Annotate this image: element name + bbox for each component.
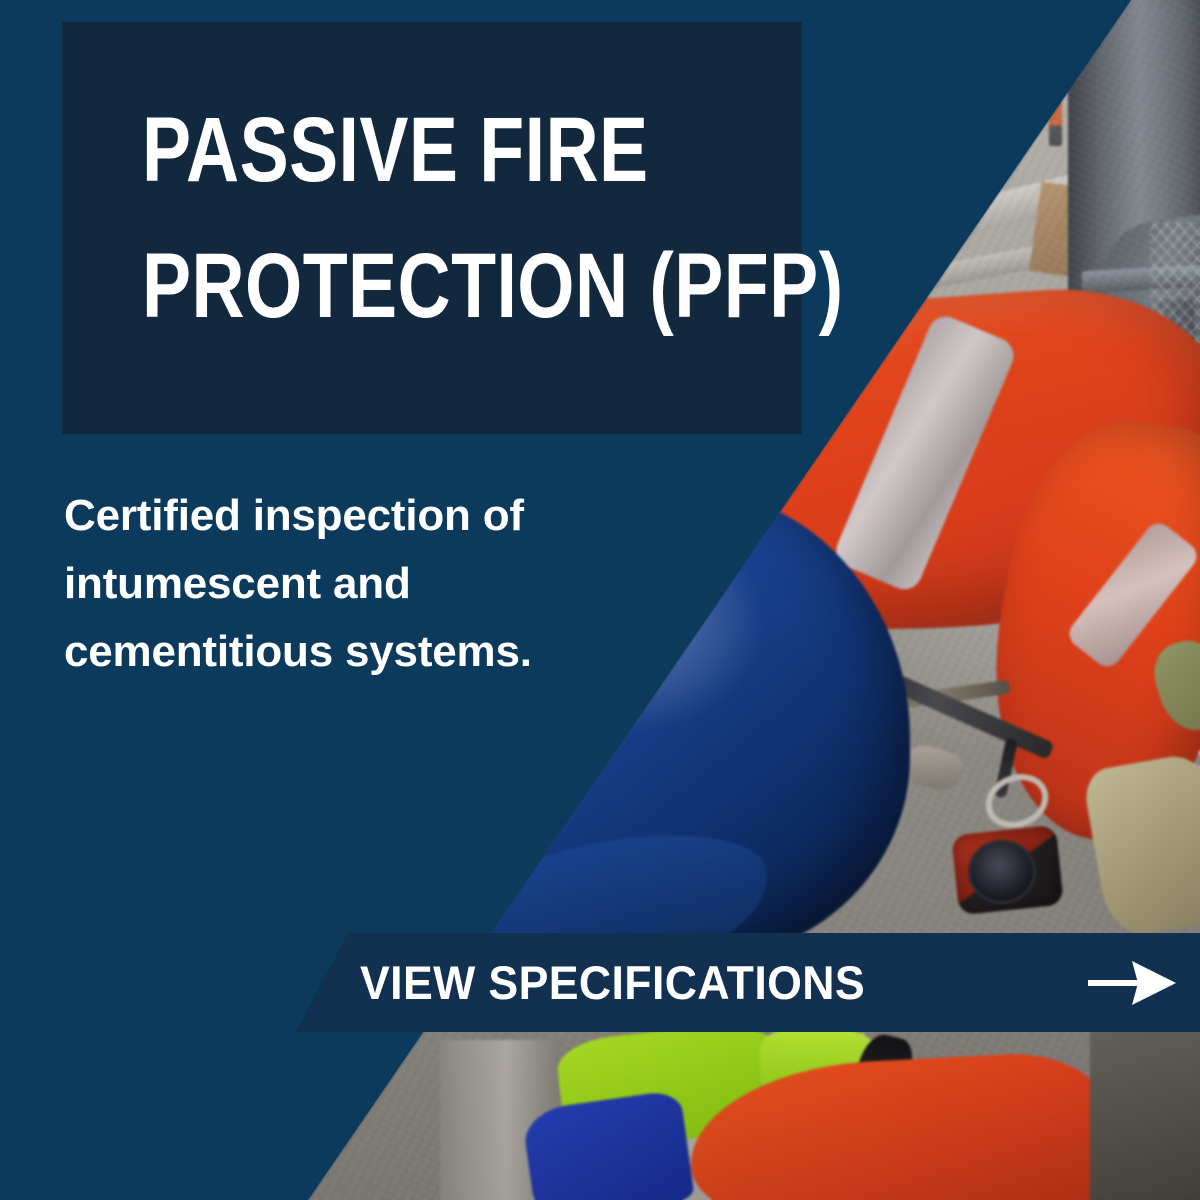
arrow-right-icon [1086, 955, 1178, 1011]
cta-label: VIEW SPECIFICATIONS [360, 955, 865, 1010]
subtitle-text: Certified inspection of intumescent and … [64, 482, 664, 686]
headline-line-2: PROTECTION (PFP) [142, 218, 702, 354]
headline-panel: PASSIVE FIRE PROTECTION (PFP) [62, 22, 802, 434]
tape-measure-dial [968, 840, 1036, 904]
dark-background [1090, 1030, 1200, 1200]
passive-fire-protection-banner: PASSIVE FIRE PROTECTION (PFP) Certified … [0, 0, 1200, 1200]
headline-line-1: PASSIVE FIRE [142, 82, 702, 218]
view-specifications-button[interactable]: VIEW SPECIFICATIONS [296, 933, 1200, 1032]
page-title: PASSIVE FIRE PROTECTION (PFP) [142, 82, 702, 354]
